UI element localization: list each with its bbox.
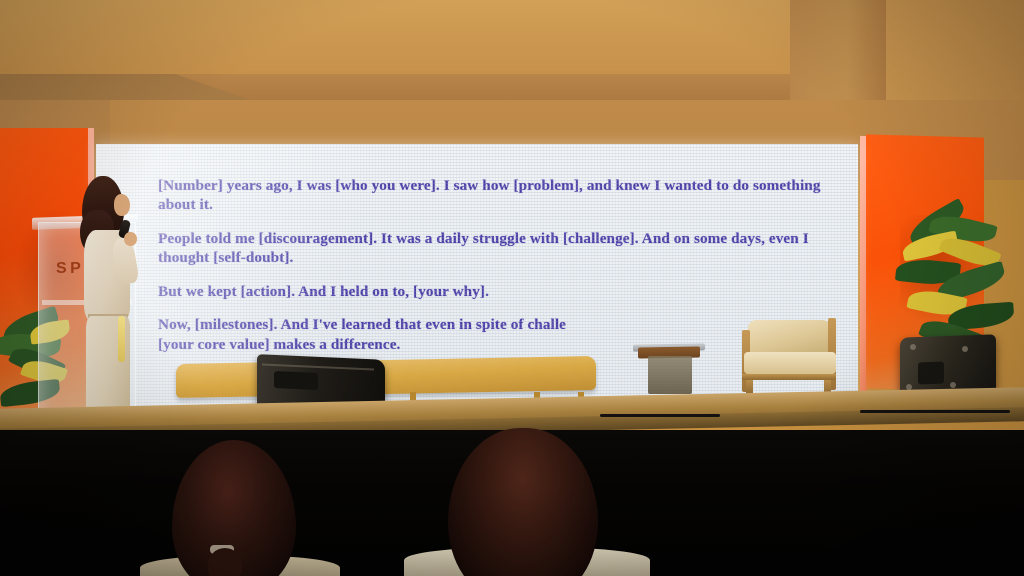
presenter-face [114,194,130,216]
stage-cable [860,410,1010,413]
monitor-bolt-icon [962,346,968,352]
slide-paragraph-3: But we kept [action]. And I held on to, … [158,282,848,301]
armchair-seat-cushion [744,352,836,374]
armchair-back-cushion [748,320,832,354]
slide-paragraph-4-line2: [your core value] makes a difference. [158,336,400,353]
monitor-bolt-icon [910,344,916,350]
podium-sublabel: · · [60,276,69,282]
presenter [74,176,140,428]
stage-cable [600,414,720,417]
armchair-rail [742,374,836,380]
stage-monitor-left-grill [274,371,318,390]
presenter-sash [118,316,125,362]
ceiling-plane [0,0,790,78]
audience-ponytail [208,548,242,576]
side-table-body [648,356,692,394]
slide-paragraph-2: People told me [discouragement]. It was … [158,229,848,268]
slide-paragraph-1: [Number] years ago, I was [who you were]… [158,176,848,215]
stage-monitor-right-grill [918,362,944,385]
stage-photo: [Number] years ago, I was [who you were]… [0,0,1024,576]
presenter-hand [124,232,137,246]
monitor-bolt-icon [950,382,956,388]
slide-paragraph-4-line1: Now, [milestones]. And I've learned that… [158,316,566,333]
